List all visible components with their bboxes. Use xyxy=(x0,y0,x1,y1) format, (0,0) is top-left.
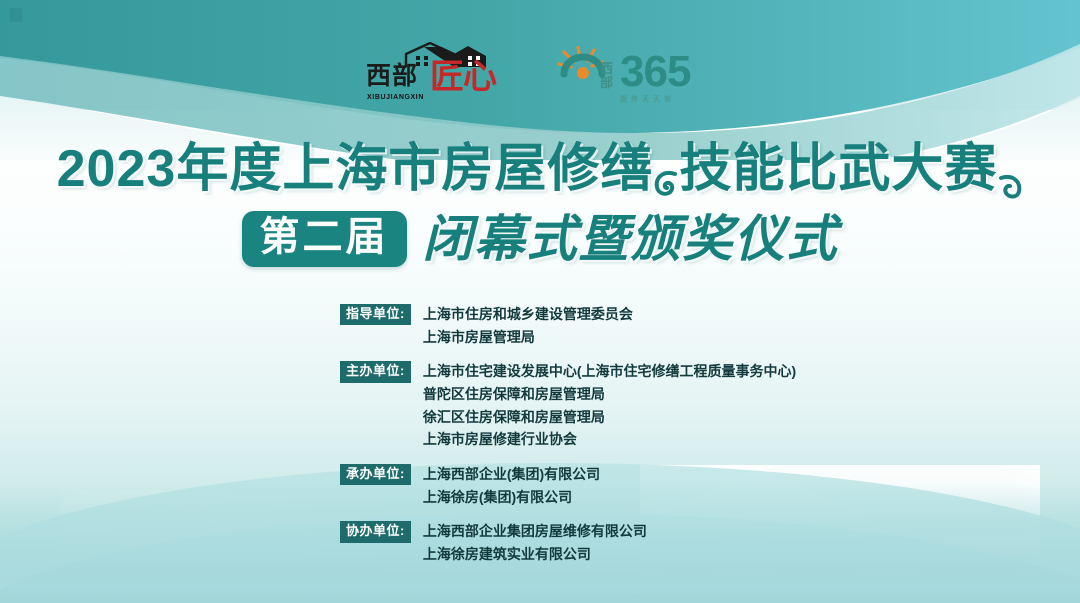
credit-value-line: 上海徐房建筑实业有限公司 xyxy=(423,543,647,566)
credit-label: 指导单位: xyxy=(340,304,411,325)
presentation-slide: 西部 XIBUJIANGXIN 匠心 西部 365 服务天天有 xyxy=(0,0,1080,603)
credit-values: 上海市住宅建设发展中心(上海市住宅修缮工程质量事务中心)普陀区住房保障和房屋管理… xyxy=(423,360,796,451)
credit-values: 上海西部企业集团房屋维修有限公司上海徐房建筑实业有限公司 xyxy=(423,520,647,565)
xibu-jiangxin-logo: 西部 XIBUJIANGXIN 匠心 xyxy=(364,42,510,108)
logo365-number: 365 xyxy=(620,50,690,94)
credit-label: 主办单位: xyxy=(340,361,411,382)
credit-value-line: 普陀区住房保障和房屋管理局 xyxy=(423,383,796,406)
xibu-logo-mark-text: 匠心 xyxy=(430,60,496,94)
credit-label: 承办单位: xyxy=(340,464,411,485)
title-block: 2023年度上海市房屋修缮技能比武大赛 第二届 闭幕式暨颁奖仪式 xyxy=(0,140,1080,267)
main-title-part-1: 2023年度上海市房屋修缮 xyxy=(57,140,654,198)
credit-group: 主办单位:上海市住宅建设发展中心(上海市住宅修缮工程质量事务中心)普陀区住房保障… xyxy=(340,360,796,451)
session-badge: 第二届 xyxy=(242,211,407,267)
logo365-small-text: 西部 xyxy=(600,62,616,89)
subtitle-text: 闭幕式暨颁奖仪式 xyxy=(423,212,839,267)
credit-values: 上海西部企业(集团)有限公司上海徐房(集团)有限公司 xyxy=(423,463,600,508)
credit-group: 指导单位:上海市住房和城乡建设管理委员会上海市房屋管理局 xyxy=(340,303,796,348)
corner-watermark-icon xyxy=(10,8,22,22)
credit-value-line: 上海市住宅建设发展中心(上海市住宅修缮工程质量事务中心) xyxy=(423,360,796,383)
credit-group: 协办单位:上海西部企业集团房屋维修有限公司上海徐房建筑实业有限公司 xyxy=(340,520,796,565)
credits-list: 指导单位:上海市住房和城乡建设管理委员会上海市房屋管理局主办单位:上海市住宅建设… xyxy=(340,303,796,578)
main-title-line-1: 2023年度上海市房屋修缮技能比武大赛 xyxy=(0,140,1080,199)
logo365-slogan: 服务天天有 xyxy=(620,94,675,104)
credit-label: 协办单位: xyxy=(340,521,411,542)
credit-value-line: 上海西部企业集团房屋维修有限公司 xyxy=(423,520,647,543)
credit-values: 上海市住房和城乡建设管理委员会上海市房屋管理局 xyxy=(423,303,633,348)
logo-row: 西部 XIBUJIANGXIN 匠心 西部 365 服务天天有 xyxy=(0,42,1080,108)
credit-value-line: 徐汇区住房保障和房屋管理局 xyxy=(423,406,796,429)
main-title-part-2: 技能比武大赛 xyxy=(679,140,997,198)
xibu-365-logo: 西部 365 服务天天有 xyxy=(556,42,716,108)
xibu-logo-pinyin: XIBUJIANGXIN xyxy=(367,94,424,101)
credit-value-line: 上海西部企业(集团)有限公司 xyxy=(423,463,600,486)
credit-group: 承办单位:上海西部企业(集团)有限公司上海徐房(集团)有限公司 xyxy=(340,463,796,508)
credit-value-line: 上海徐房(集团)有限公司 xyxy=(423,486,600,509)
credit-value-line: 上海市住房和城乡建设管理委员会 xyxy=(423,303,633,326)
credit-value-line: 上海市房屋修建行业协会 xyxy=(423,428,796,451)
xibu-logo-cn-text: 西部 xyxy=(366,64,418,89)
swirl-ornament-left-icon xyxy=(653,154,679,186)
swirl-ornament-right-icon xyxy=(997,154,1023,186)
main-title-line-2: 第二届 闭幕式暨颁奖仪式 xyxy=(0,211,1080,267)
credit-value-line: 上海市房屋管理局 xyxy=(423,326,633,349)
